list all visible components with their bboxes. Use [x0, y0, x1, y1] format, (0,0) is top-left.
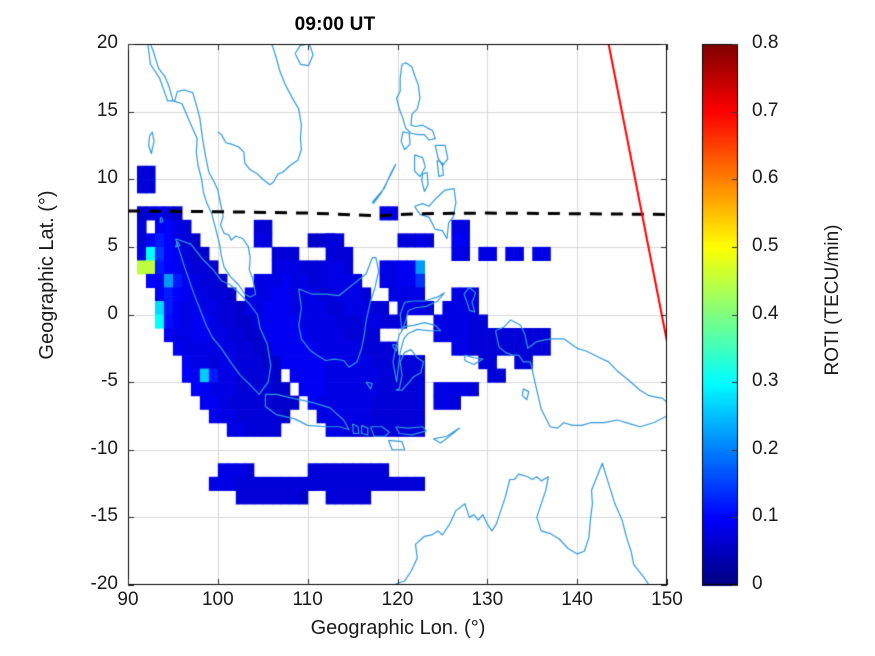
y-tick-15: 15: [68, 100, 118, 122]
colorbar-tick-0p4: 0.4: [752, 303, 778, 325]
x-tick-120: 120: [368, 589, 428, 611]
y-tick-0: 0: [68, 303, 118, 325]
colorbar-label: ROTI (TECU/min): [822, 40, 844, 560]
y-tick--20: -20: [68, 573, 118, 595]
y-tick-5: 5: [68, 235, 118, 257]
colorbar-tick-0p8: 0.8: [752, 32, 778, 54]
x-tick-100: 100: [188, 589, 248, 611]
colorbar-tick-0p7: 0.7: [752, 100, 778, 122]
colorbar-tick-0p1: 0.1: [752, 505, 778, 527]
colorbar-tick-0p2: 0.2: [752, 438, 778, 460]
figure-root: 09:00 UT Geographic Lon. (°) Geographic …: [0, 0, 875, 656]
x-tick-130: 130: [457, 589, 517, 611]
colorbar-tick-0p5: 0.5: [752, 235, 778, 257]
y-tick--15: -15: [68, 505, 118, 527]
roti-map-canvas: [0, 0, 875, 656]
x-tick-150: 150: [637, 589, 697, 611]
x-tick-110: 110: [278, 589, 338, 611]
x-tick-140: 140: [547, 589, 607, 611]
colorbar-tick-0p3: 0.3: [752, 370, 778, 392]
y-tick-20: 20: [68, 32, 118, 54]
x-axis-label: Geographic Lon. (°): [128, 617, 668, 640]
y-tick--10: -10: [68, 438, 118, 460]
colorbar-tick-0: 0: [752, 573, 763, 595]
y-tick-10: 10: [68, 167, 118, 189]
y-tick--5: -5: [68, 370, 118, 392]
y-axis-label: Geographic Lat. (°): [36, 50, 59, 500]
colorbar-tick-0p6: 0.6: [752, 167, 778, 189]
